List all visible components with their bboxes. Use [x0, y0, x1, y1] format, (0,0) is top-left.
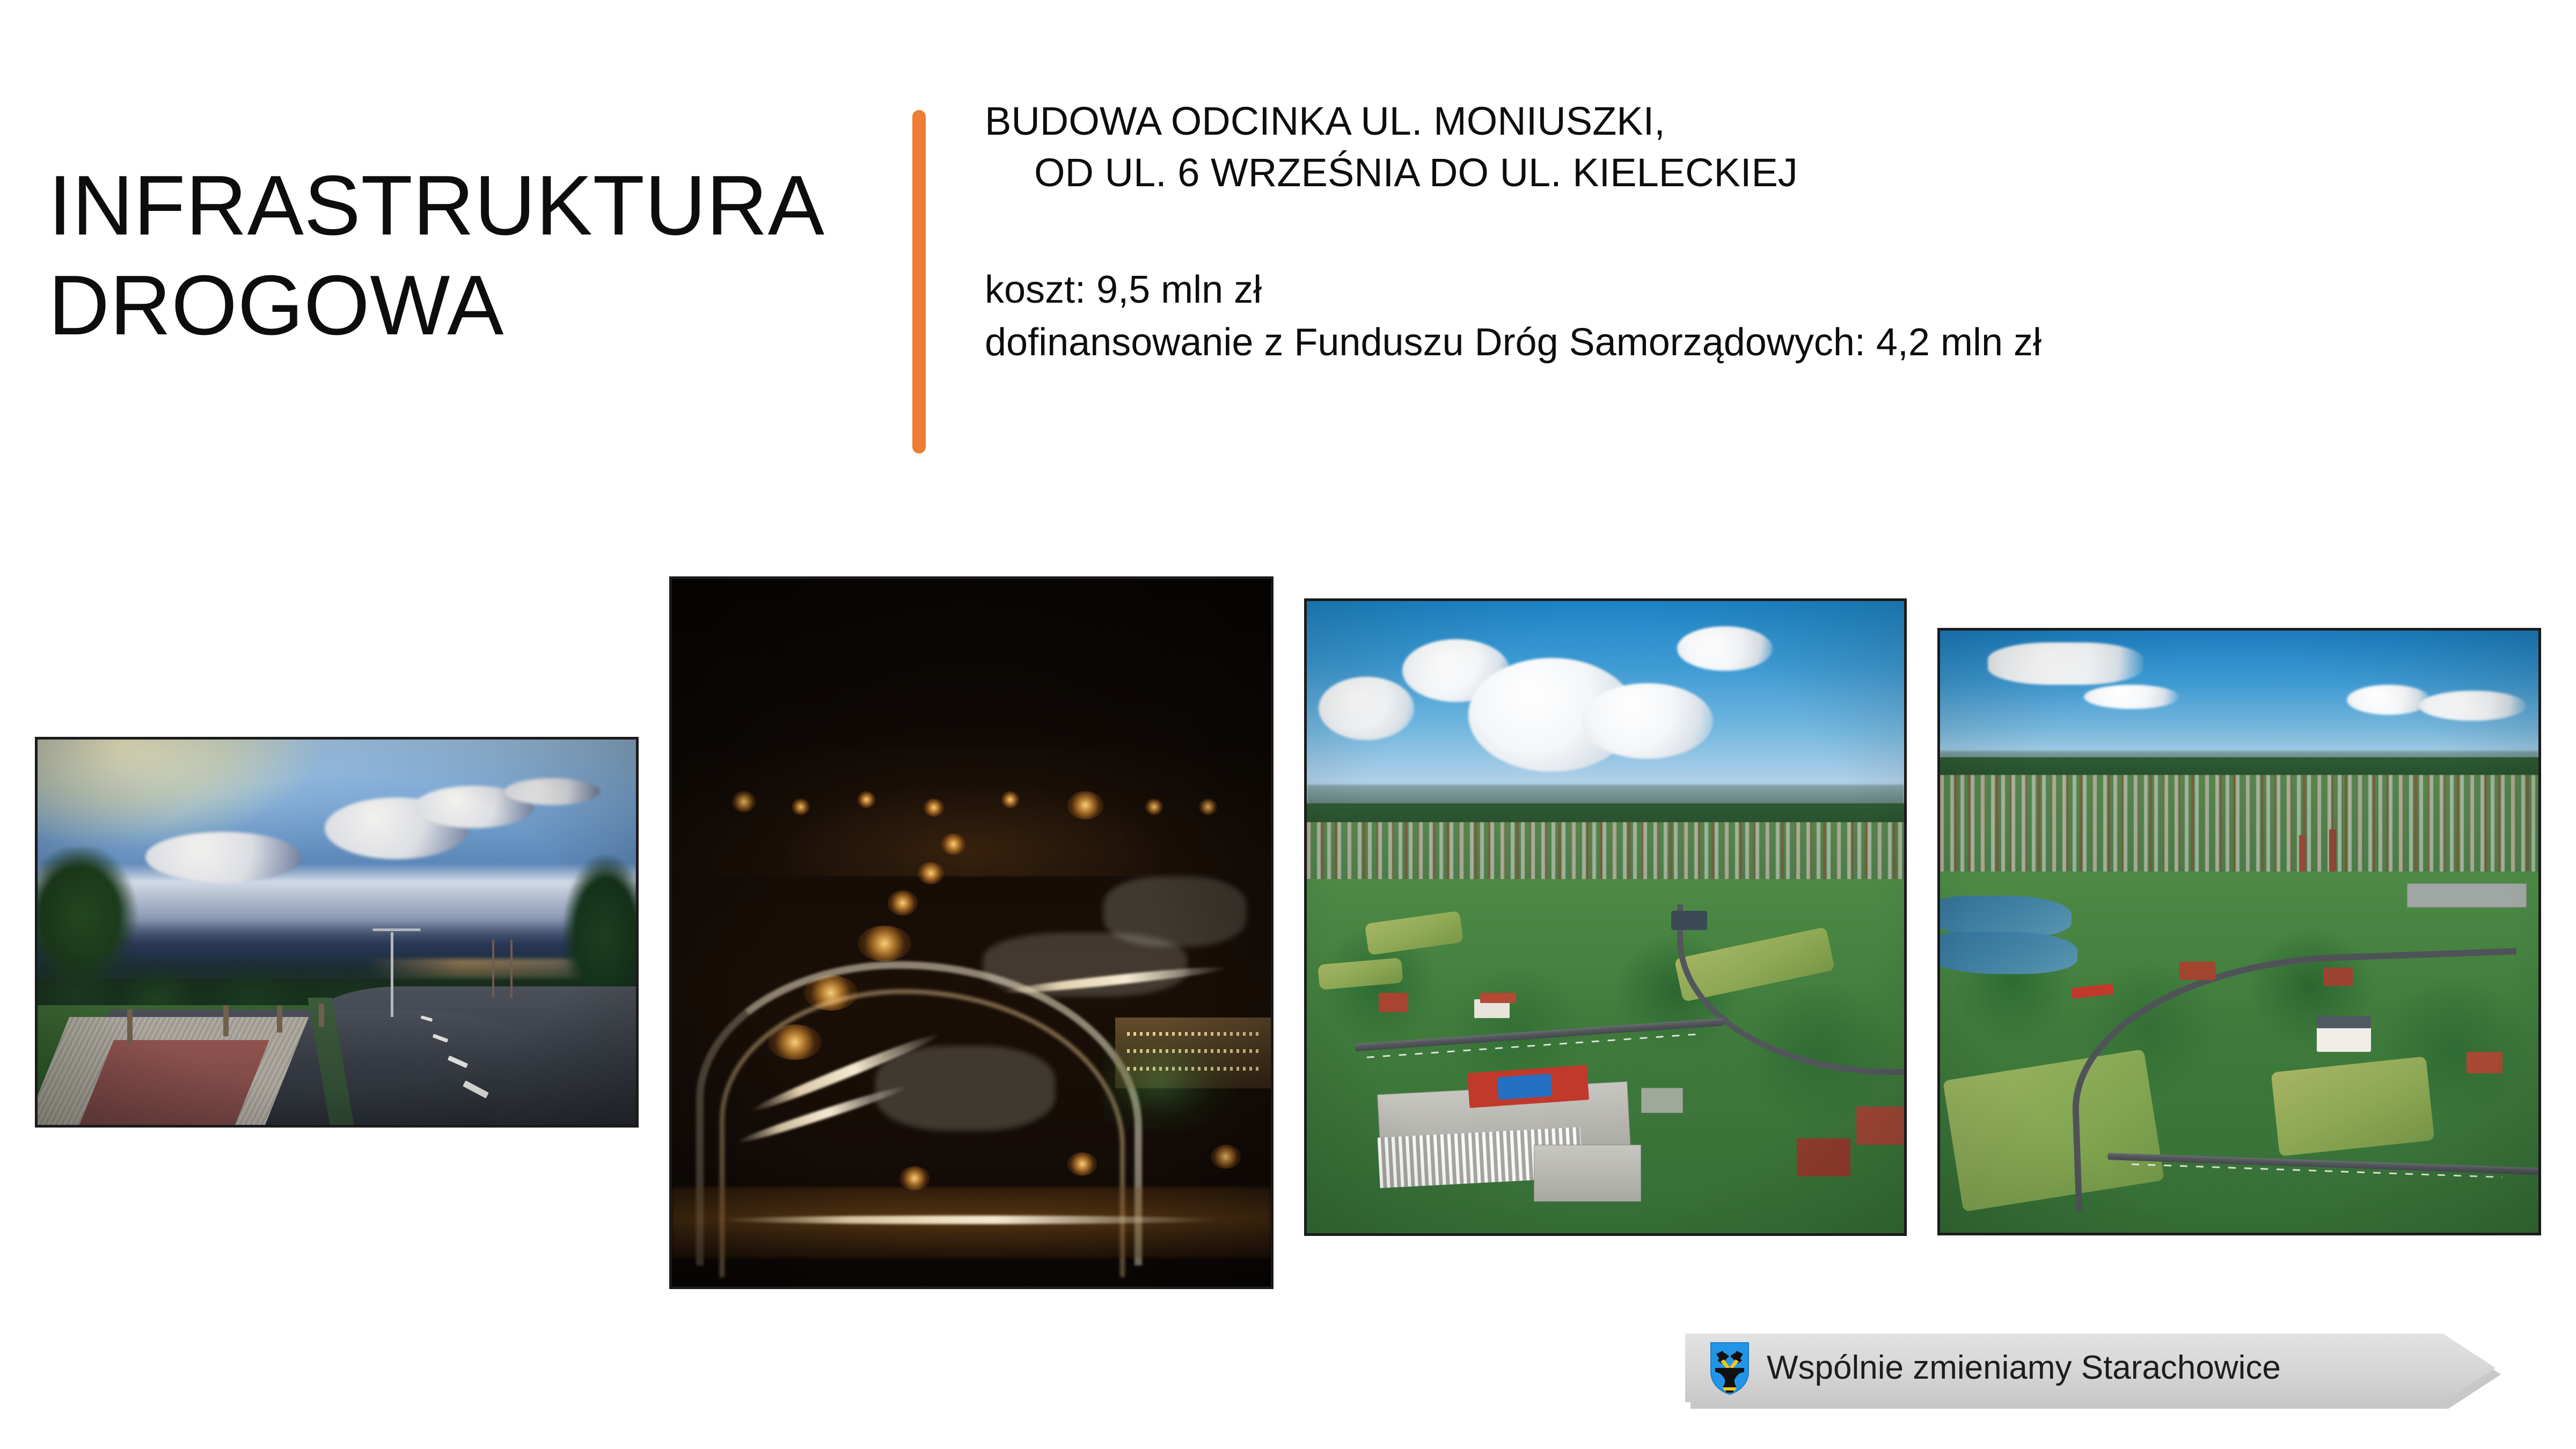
coat-of-arms-icon	[1709, 1341, 1751, 1395]
project-heading-line-2: OD UL. 6 WRZEŚNIA DO UL. KIELECKIEJ	[985, 147, 2461, 199]
banner-slogan-text: Wspólnie zmieniamy Starachowice	[1767, 1351, 2281, 1385]
night-vignette	[672, 579, 1271, 1286]
ponds-vignette	[1940, 631, 2538, 1233]
photo-day-aerial-school[interactable]: Dzienne zdjęcie lotnicze: szkoła z boisk…	[1304, 598, 1907, 1236]
title-line-2: DROGOWA	[48, 255, 885, 355]
dusk-road-scene	[38, 740, 636, 1125]
slide-canvas: INFRASTRUKTURA DROGOWA BUDOWA ODCINKA UL…	[0, 0, 2576, 1449]
photo-day-aerial-ponds[interactable]: Dzienne zdjęcie lotnicze: droga, stawy i…	[1937, 628, 2541, 1235]
school-vignette	[1307, 601, 1904, 1233]
project-heading-line-1: BUDOWA ODCINKA UL. MONIUSZKI,	[985, 96, 2461, 147]
cost-line: koszt: 9,5 mln zł	[985, 264, 2461, 317]
page-title: INFRASTRUKTURA DROGOWA	[48, 156, 885, 356]
photo-night-aerial[interactable]: Nocne zdjęcie lotnicze drogi ze smugami …	[669, 576, 1274, 1289]
day-school-scene	[1307, 601, 1904, 1233]
funding-line: dofinansowanie z Funduszu Dróg Samorządo…	[985, 317, 2461, 369]
photo-dusk-road[interactable]: Nowa droga o zmierzchu z chodnikiem, lat…	[35, 737, 639, 1128]
night-aerial-scene	[672, 579, 1271, 1286]
day-ponds-scene	[1940, 631, 2538, 1233]
accent-divider-bar	[912, 110, 926, 453]
cost-block: koszt: 9,5 mln zł dofinansowanie z Fundu…	[985, 264, 2461, 369]
footer-slogan-banner[interactable]: Wspólnie zmieniamy Starachowice	[1685, 1334, 2495, 1402]
title-line-1: INFRASTRUKTURA	[48, 156, 885, 255]
dusk-vignette	[38, 740, 636, 1125]
subtitle-block: BUDOWA ODCINKA UL. MONIUSZKI, OD UL. 6 W…	[985, 96, 2461, 369]
banner-content: Wspólnie zmieniamy Starachowice	[1685, 1334, 2495, 1402]
